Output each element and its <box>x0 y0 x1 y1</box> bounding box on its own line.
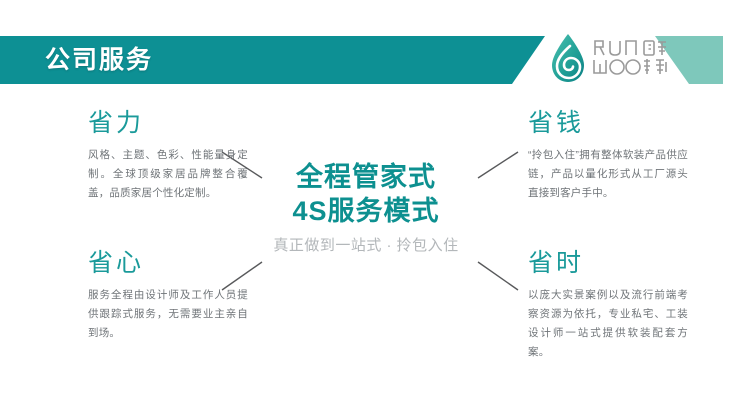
logo-text-run <box>592 38 670 57</box>
center-message: 全程管家式 4S服务模式 真正做到一站式 · 拎包入住 <box>243 160 489 255</box>
feature-title: 省心 <box>88 248 248 278</box>
brand-logo <box>548 30 668 86</box>
feature-card-top-right: 省钱 “拎包入住”拥有整体软装产品供应链，产品以量化形式从工厂源头直接到客户手中… <box>528 108 688 203</box>
water-drop-icon <box>548 32 588 84</box>
feature-card-top-left: 省力 风格、主题、色彩、性能量身定制。全球顶级家居品牌整合覆盖，品质家居个性化定… <box>88 108 248 203</box>
feature-title: 省钱 <box>528 108 688 138</box>
feature-card-bottom-right: 省时 以庞大实景案例以及流行前端考察资源为依托，专业私宅、工装设计师一站式提供软… <box>528 248 688 362</box>
slide-canvas: 公司服务 <box>0 0 730 411</box>
feature-title: 省力 <box>88 108 248 138</box>
center-subtitle: 真正做到一站式 · 拎包入住 <box>243 234 489 255</box>
feature-body: 风格、主题、色彩、性能量身定制。全球顶级家居品牌整合覆盖，品质家居个性化定制。 <box>88 146 248 203</box>
feature-card-bottom-left: 省心 服务全程由设计师及工作人员提供跟踪式服务，无需要业主亲自到场。 <box>88 248 248 343</box>
logo-text-woo <box>592 57 670 76</box>
feature-body: 服务全程由设计师及工作人员提供跟踪式服务，无需要业主亲自到场。 <box>88 286 248 343</box>
feature-title: 省时 <box>528 248 688 278</box>
page-title: 公司服务 <box>45 36 153 84</box>
connector-bottom-right <box>478 262 518 290</box>
center-title-line2: 4S服务模式 <box>243 194 489 228</box>
logo-wordmark <box>592 38 670 80</box>
center-title-line1: 全程管家式 <box>243 160 489 194</box>
feature-body: 以庞大实景案例以及流行前端考察资源为依托，专业私宅、工装设计师一站式提供软装配套… <box>528 286 688 362</box>
feature-body: “拎包入住”拥有整体软装产品供应链，产品以量化形式从工厂源头直接到客户手中。 <box>528 146 688 203</box>
